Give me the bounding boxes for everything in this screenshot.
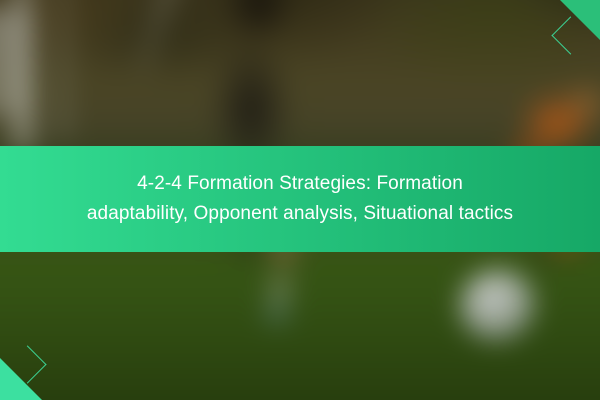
banner-graphic: 4-2-4 Formation Strategies: Formation ad… [0,0,600,400]
top-right-ornament [520,0,600,80]
bottom-left-ornament [0,320,80,400]
title-banner: 4-2-4 Formation Strategies: Formation ad… [0,146,600,252]
banner-title-line-2: adaptability, Opponent analysis, Situati… [87,199,513,229]
banner-title-line-1: 4-2-4 Formation Strategies: Formation [137,169,463,199]
